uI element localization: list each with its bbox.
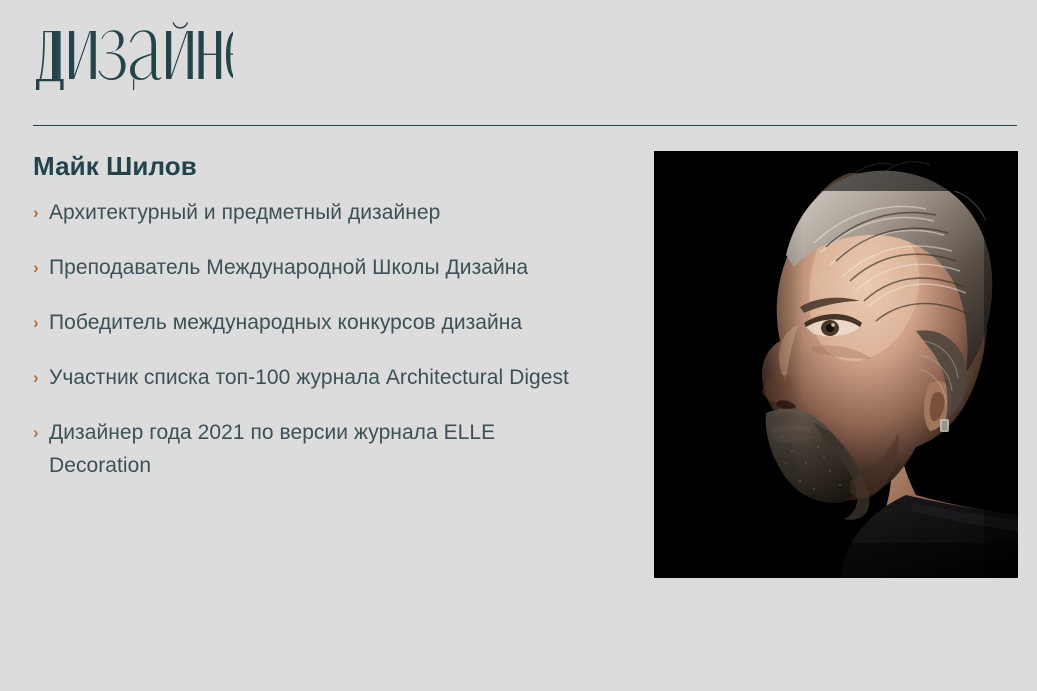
bio-credentials-list: › Архитектурный и предметный дизайнер › …: [33, 196, 573, 482]
chevron-right-icon: ›: [33, 251, 45, 284]
list-item: › Победитель международных конкурсов диз…: [33, 306, 573, 339]
brand-logo-wordmark: [33, 22, 233, 94]
portrait-photo: [654, 151, 1018, 578]
list-item-label: Победитель международных конкурсов дизай…: [49, 311, 522, 334]
list-item: › Участник списка топ-100 журнала Archit…: [33, 361, 573, 394]
slide-root: Майк Шилов › Архитектурный и предметный …: [0, 0, 1037, 691]
chevron-right-icon: ›: [33, 196, 45, 229]
list-item-label: Дизайнер года 2021 по версии журнала ELL…: [49, 421, 495, 477]
list-item-label: Преподаватель Международной Школы Дизайн…: [49, 256, 528, 279]
page-title: Майк Шилов: [33, 150, 573, 182]
chevron-right-icon: ›: [33, 306, 45, 339]
bio-panel: Майк Шилов › Архитектурный и предметный …: [33, 150, 573, 482]
portrait-illustration: [654, 151, 1018, 578]
site-header: [33, 22, 1017, 126]
list-item: › Дизайнер года 2021 по версии журнала E…: [33, 416, 573, 482]
list-item: › Архитектурный и предметный дизайнер: [33, 196, 573, 229]
list-item-label: Архитектурный и предметный дизайнер: [49, 201, 440, 224]
chevron-right-icon: ›: [33, 416, 45, 449]
chevron-right-icon: ›: [33, 361, 45, 394]
list-item-label: Участник списка топ-100 журнала Architec…: [49, 366, 569, 389]
brand-logo[interactable]: [33, 22, 233, 94]
list-item: › Преподаватель Международной Школы Диза…: [33, 251, 573, 284]
header-divider: [33, 125, 1017, 126]
